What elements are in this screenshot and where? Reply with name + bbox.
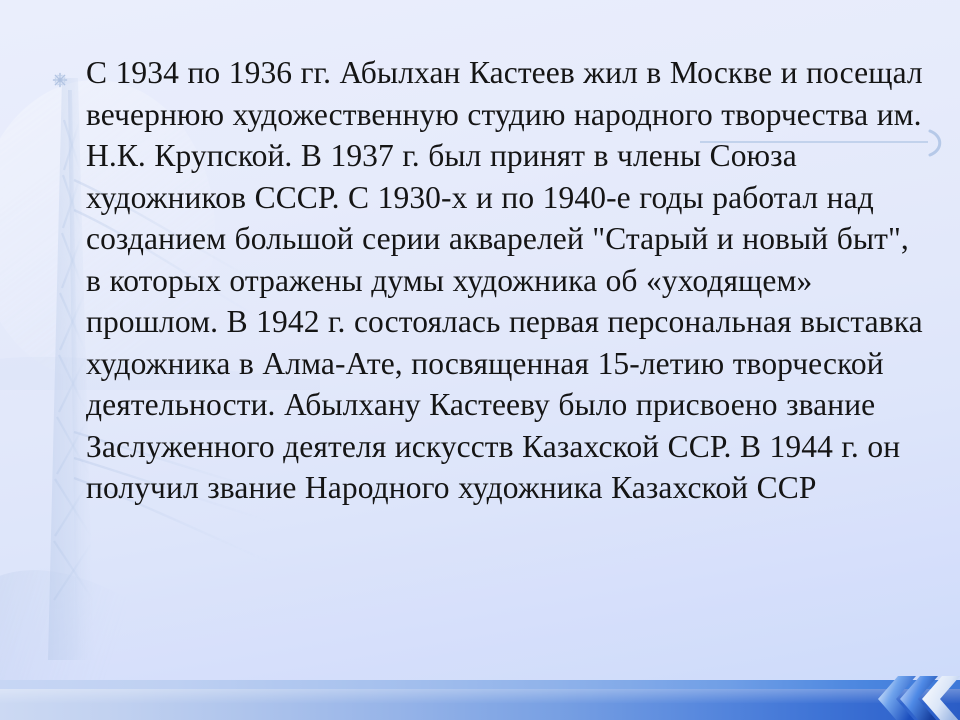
footer-bar-sheen (0, 689, 960, 703)
slide-body-text: С 1934 по 1936 гг. Абылхан Кастеев жил в… (86, 52, 924, 509)
slide-content: С 1934 по 1936 гг. Абылхан Кастеев жил в… (0, 0, 960, 660)
slide: С 1934 по 1936 гг. Абылхан Кастеев жил в… (0, 0, 960, 720)
bullet-list-item: С 1934 по 1936 гг. Абылхан Кастеев жил в… (52, 52, 924, 509)
double-chevron-left-icon[interactable] (864, 676, 960, 720)
footer-bar-upper-band (0, 680, 960, 689)
footer-bar (0, 680, 960, 720)
snowflake-bullet-icon (52, 52, 86, 88)
